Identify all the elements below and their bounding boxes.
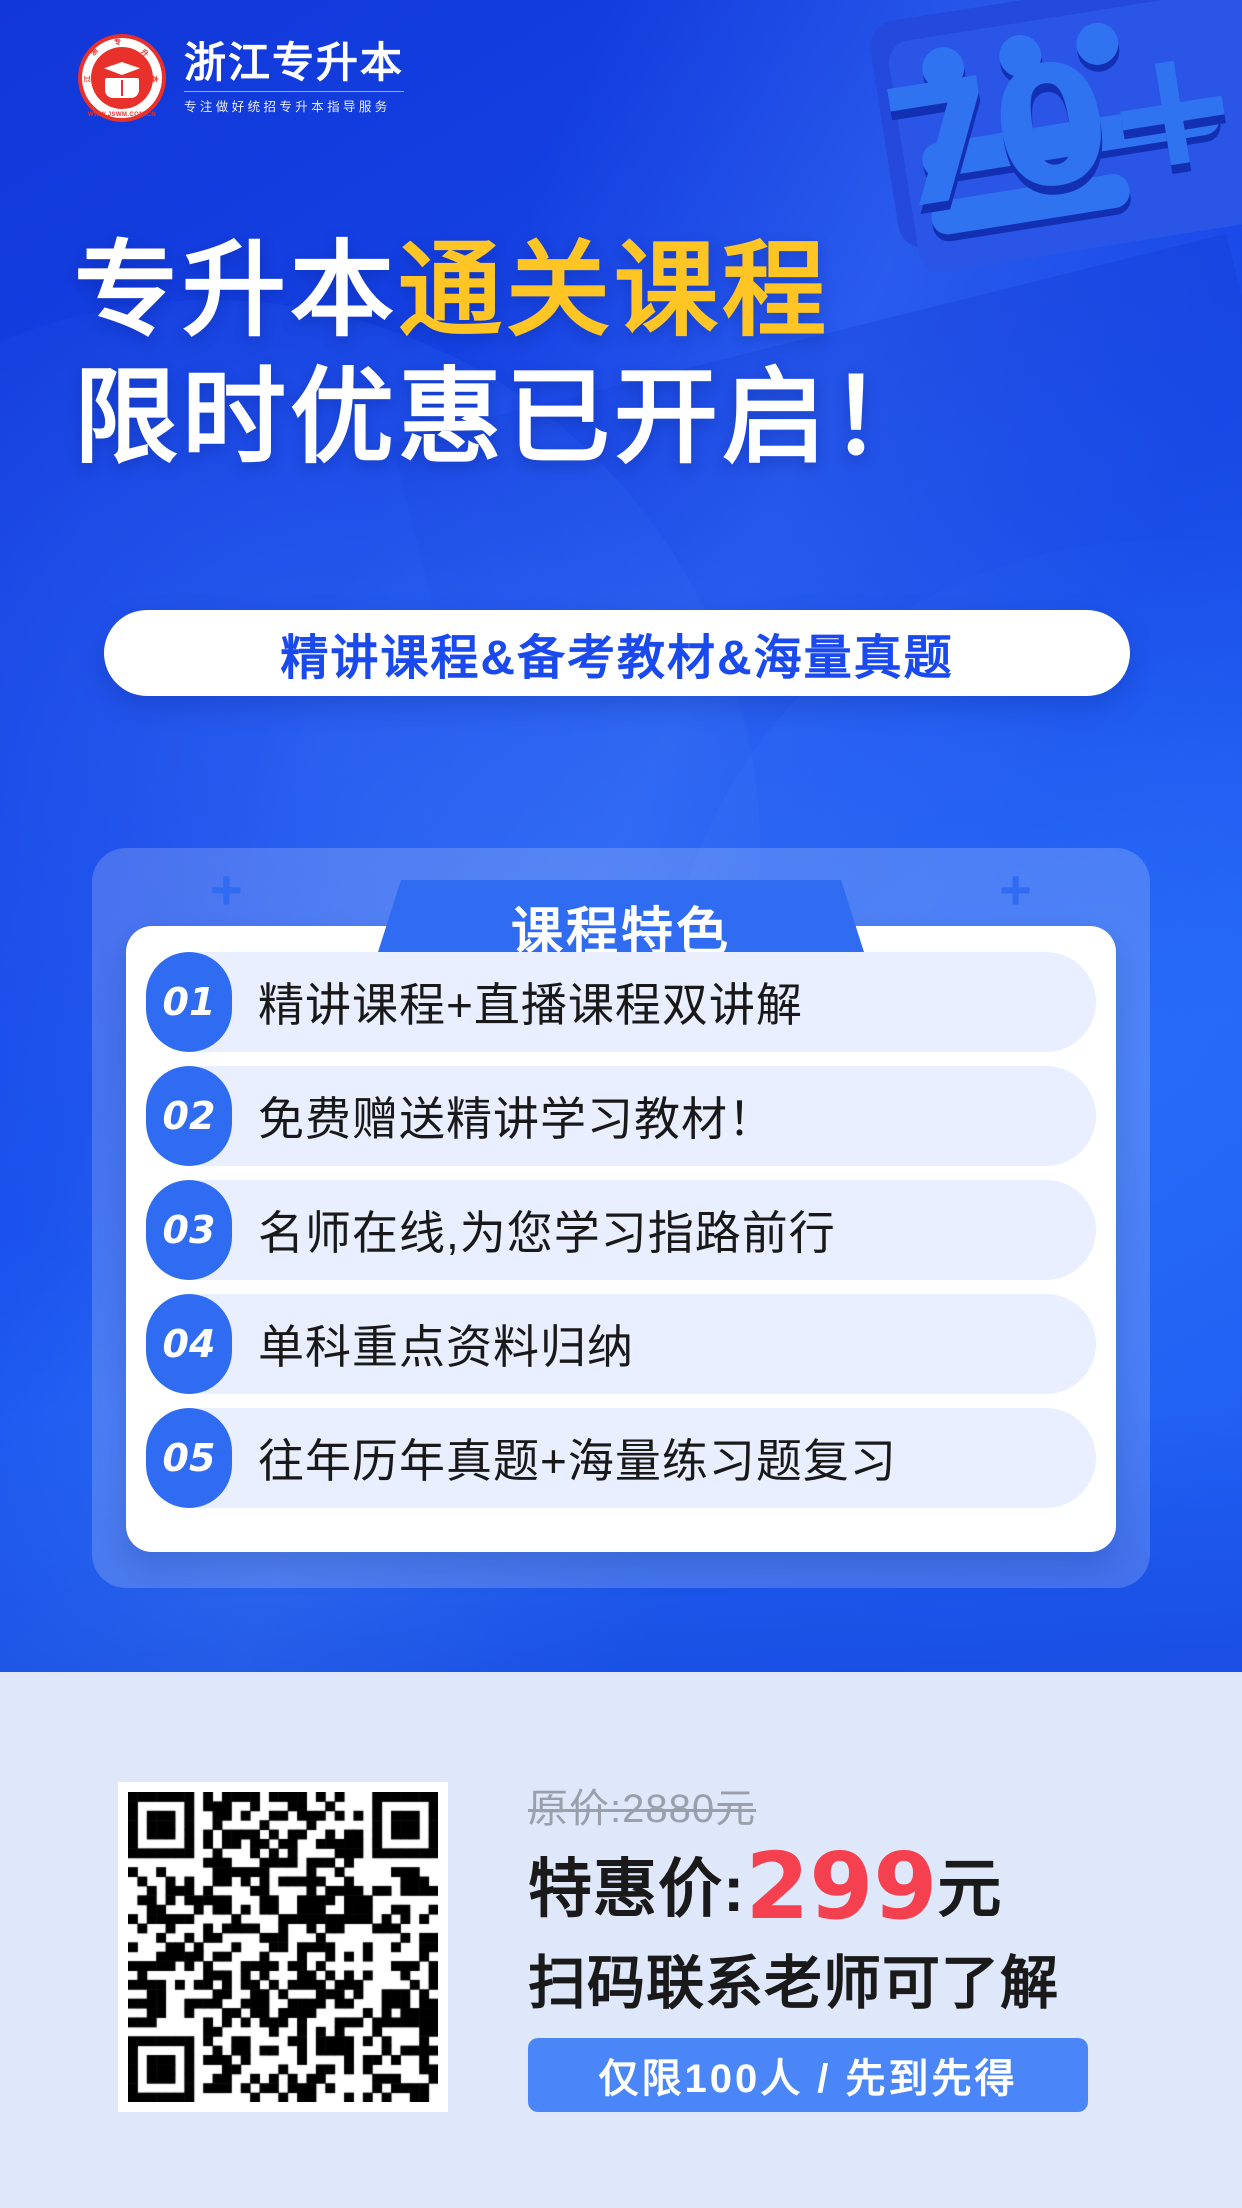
promo-poster: 70+ 专 升 本 江 浙 WWW.JSWM.COM.CN 浙江专升本 专注做好	[0, 0, 1242, 2208]
features-card: 课程特色 01精讲课程+直播课程双讲解02免费赠送精讲学习教材！03名师在线,为…	[126, 926, 1116, 1552]
seal-char: 浙	[88, 46, 100, 58]
feature-row: 04单科重点资料归纳	[146, 1294, 1096, 1394]
feature-text: 单科重点资料归纳	[258, 1311, 634, 1377]
feature-number: 02	[146, 1066, 232, 1166]
title-line-1: 专升本通关课程	[74, 228, 1174, 355]
features-card-outer: 课程特色 01精讲课程+直播课程双讲解02免费赠送精讲学习教材！03名师在线,为…	[92, 848, 1150, 1588]
feature-number: 04	[146, 1294, 232, 1394]
special-price-row: 特惠价: 299 元	[528, 1838, 1128, 1930]
features-list: 01精讲课程+直播课程双讲解02免费赠送精讲学习教材！03名师在线,为您学习指路…	[146, 952, 1096, 1508]
scan-instruction: 扫码联系老师可了解	[528, 1936, 1128, 2020]
plus-icon-left: +	[210, 862, 243, 918]
plus-icon-right: +	[999, 862, 1032, 918]
page-title: 专升本通关课程 限时优惠已开启！	[74, 228, 1174, 482]
special-price-unit: 元	[937, 1838, 1001, 1930]
offer-panel: 原价:2880元 特惠价: 299 元 扫码联系老师可了解 仅限100人 / 先…	[0, 1672, 1242, 2208]
brand-logo: 专 升 本 江 浙 WWW.JSWM.COM.CN 浙江专升本 专注做好统招专升…	[78, 34, 404, 122]
feature-text: 精讲课程+直播课程双讲解	[258, 969, 803, 1035]
highlights-pill-text: 精讲课程&备考教材&海量真题	[280, 618, 953, 688]
cta-button-label: 仅限100人 / 先到先得	[598, 2046, 1017, 2104]
brand-tagline: 专注做好统招专升本指导服务	[184, 91, 404, 115]
feature-row: 03名师在线,为您学习指路前行	[146, 1180, 1096, 1280]
seal-characters: 专 升 本 江 浙	[78, 34, 166, 122]
qr-code-pattern	[128, 1792, 438, 2102]
feature-text: 名师在线,为您学习指路前行	[258, 1197, 836, 1263]
feature-row: 01精讲课程+直播课程双讲解	[146, 952, 1096, 1052]
seal-char: 专	[114, 37, 121, 47]
feature-number: 03	[146, 1180, 232, 1280]
highlights-pill: 精讲课程&备考教材&海量真题	[104, 610, 1130, 696]
seal-char: 江	[83, 76, 93, 83]
feature-row: 05往年历年真题+海量练习题复习	[146, 1408, 1096, 1508]
title-white-part: 专升本	[74, 233, 398, 349]
title-line-2: 限时优惠已开启！	[74, 355, 1174, 482]
cta-button[interactable]: 仅限100人 / 先到先得	[528, 2038, 1088, 2112]
original-price: 原价:2880元	[528, 1776, 1128, 1834]
qr-code[interactable]	[118, 1782, 448, 2112]
seal-char: 升	[138, 47, 150, 59]
title-accent-part: 通关课程	[398, 233, 830, 349]
feature-number: 05	[146, 1408, 232, 1508]
hero-panel: 70+ 专 升 本 江 浙 WWW.JSWM.COM.CN 浙江专升本 专注做好	[0, 0, 1242, 1672]
feature-text: 往年历年真题+海量练习题复习	[258, 1425, 897, 1491]
feature-text: 免费赠送精讲学习教材！	[258, 1083, 775, 1149]
seal-char: 本	[150, 76, 160, 83]
feature-row: 02免费赠送精讲学习教材！	[146, 1066, 1096, 1166]
price-block: 原价:2880元 特惠价: 299 元 扫码联系老师可了解 仅限100人 / 先…	[528, 1776, 1128, 2112]
seal-url-text: WWW.JSWM.COM.CN	[78, 112, 166, 118]
brand-name: 浙江专升本	[184, 41, 404, 85]
special-price-amount: 299	[745, 1845, 937, 1930]
graduation-seal-icon: 专 升 本 江 浙 WWW.JSWM.COM.CN	[78, 34, 166, 122]
special-price-label: 特惠价:	[528, 1838, 745, 1930]
brand-text-block: 浙江专升本 专注做好统招专升本指导服务	[184, 41, 404, 114]
feature-number: 01	[146, 952, 232, 1052]
